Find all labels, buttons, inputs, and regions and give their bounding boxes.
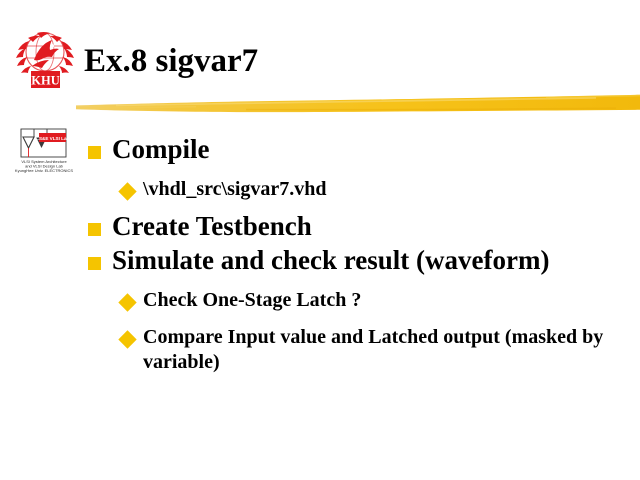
brush-stroke-graphic — [76, 92, 640, 118]
lab-logo-graphic: CS&E VLSI Lab VLSI System Architecture a… — [14, 126, 88, 174]
bullet-label: \vhdl_src\sigvar7.vhd — [143, 177, 636, 203]
spacer — [88, 204, 636, 211]
bullet-item-create-testbench: Create Testbench — [88, 211, 636, 243]
bullet-label: Compare Input value and Latched output (… — [143, 325, 636, 376]
content-bullet-list: Compile \vhdl_src\sigvar7.vhd Create Tes… — [88, 134, 636, 378]
bullet-label: Check One-Stage Latch ? — [143, 288, 636, 314]
title-divider — [76, 92, 640, 118]
lab-caption-line3: KyungHee Univ. ELECTRONICS — [15, 168, 74, 173]
square-bullet-icon — [88, 134, 110, 159]
bullet-item-compare-input: Compare Input value and Latched output (… — [120, 325, 636, 376]
khu-wordmark: KHU — [31, 74, 59, 88]
diamond-bullet-icon — [120, 325, 141, 346]
bullet-item-simulate-check: Simulate and check result (waveform) — [88, 245, 636, 277]
spacer — [88, 168, 636, 177]
square-bullet-icon — [88, 211, 110, 236]
bullet-item-check-latch: Check One-Stage Latch ? — [120, 288, 636, 314]
diamond-bullet-icon — [120, 177, 141, 198]
khu-university-logo: KHU — [12, 26, 78, 92]
square-bullet-icon — [88, 245, 110, 270]
spacer — [88, 279, 636, 288]
bullet-label: Create Testbench — [112, 211, 636, 243]
bullet-label: Simulate and check result (waveform) — [112, 245, 636, 277]
bullet-item-vhdl-path: \vhdl_src\sigvar7.vhd — [120, 177, 636, 203]
bullet-item-compile: Compile — [88, 134, 636, 166]
page-title: Ex.8 sigvar7 — [84, 44, 258, 79]
diamond-bullet-icon — [120, 288, 141, 309]
bullet-label: Compile — [112, 134, 636, 166]
lab-badge-label: CS&E VLSI Lab — [36, 136, 70, 141]
khu-logo-graphic: KHU — [12, 26, 78, 92]
spacer — [88, 316, 636, 325]
lab-logo: CS&E VLSI Lab VLSI System Architecture a… — [14, 126, 88, 174]
